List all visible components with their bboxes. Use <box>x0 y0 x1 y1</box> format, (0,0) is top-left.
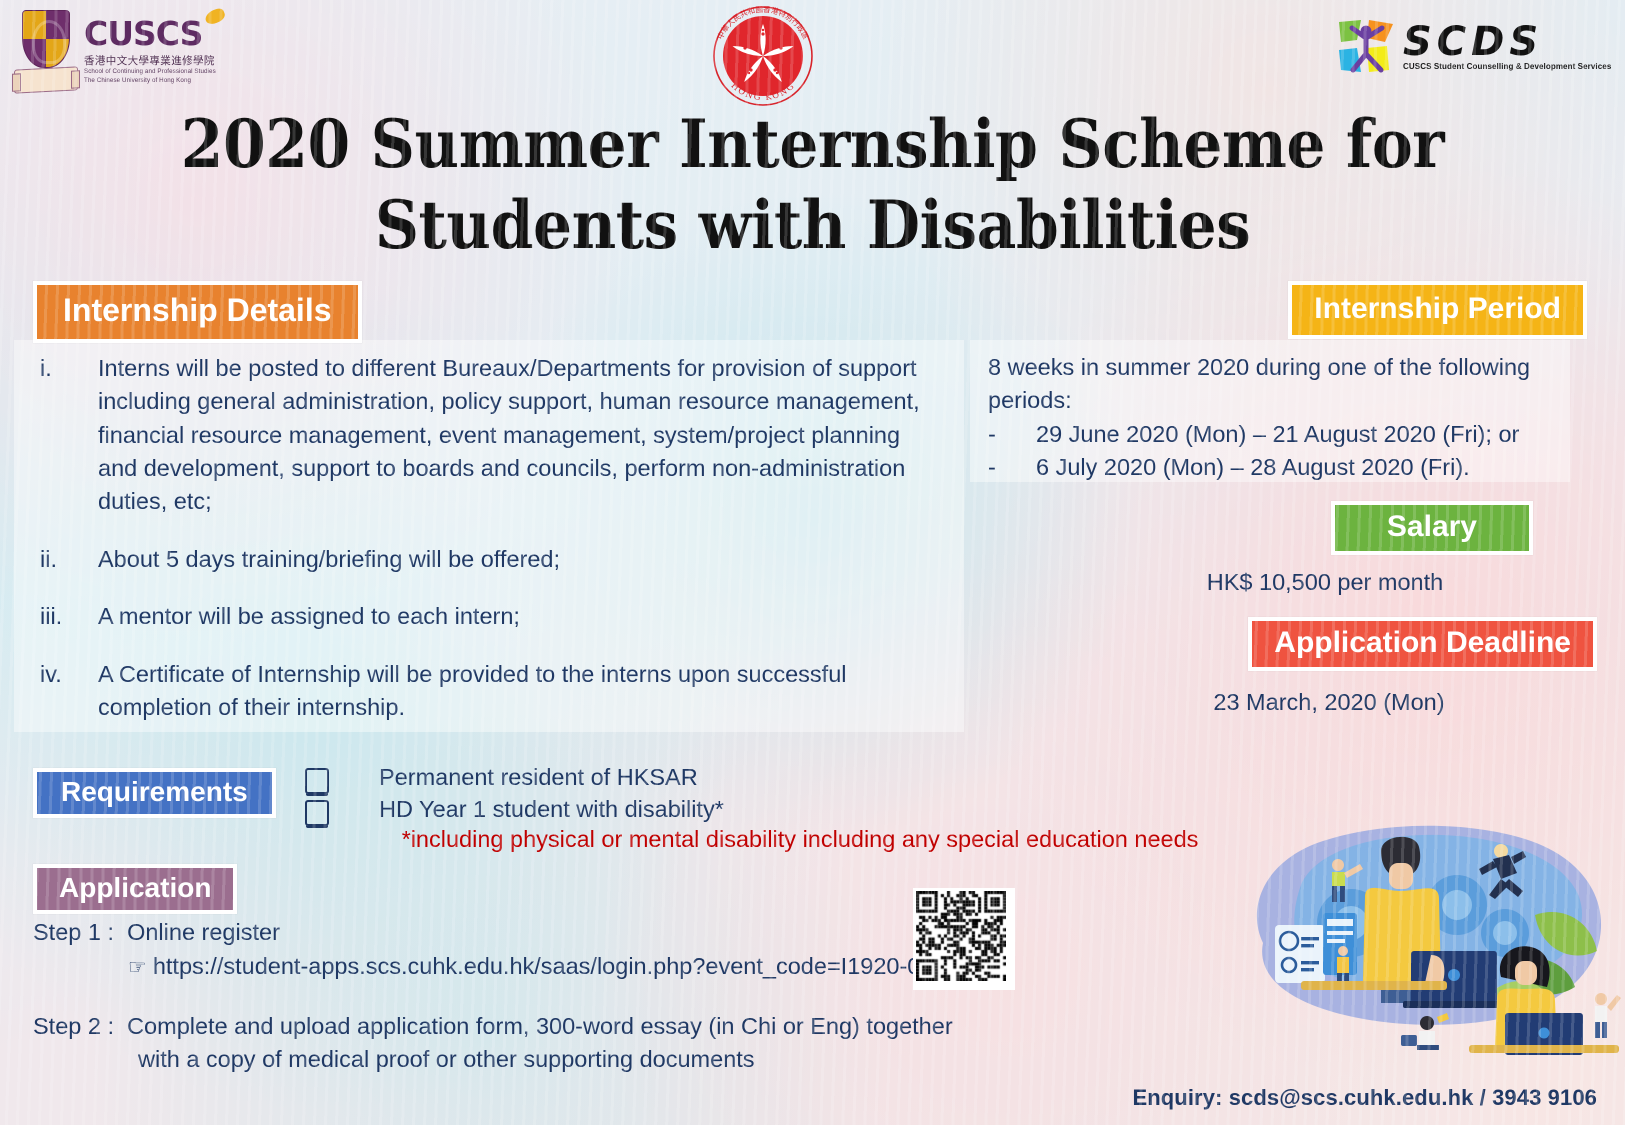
list-item-number: ii. <box>40 543 98 576</box>
step-1-text: Online register <box>127 919 280 945</box>
section-badge-salary: Salary <box>1331 501 1533 555</box>
list-item-number: iv. <box>40 658 98 725</box>
qr-code-icon[interactable] <box>913 888 1015 990</box>
list-item-text: Interns will be posted to different Bure… <box>98 352 940 519</box>
cuhk-crest-icon <box>14 8 76 94</box>
section-badge-requirements: Requirements <box>33 768 276 818</box>
internship-period-content: 8 weeks in summer 2020 during one of the… <box>988 351 1568 484</box>
enquiry-line: Enquiry: scds@scs.cuhk.edu.hk / 3943 910… <box>1132 1085 1597 1111</box>
page-title: 2020 Summer Internship Scheme for Studen… <box>57 104 1568 265</box>
application-deadline-value: 23 March, 2020 (Mon) <box>1059 686 1599 719</box>
registration-url-line[interactable]: ☞https://student-apps.scs.cuhk.edu.hk/sa… <box>128 950 947 983</box>
title-line-2: Students with Disabilities <box>57 185 1568 266</box>
period-option-text: 6 July 2020 (Mon) – 28 August 2020 (Fri)… <box>1036 451 1470 484</box>
salary-value: HK$ 10,500 per month <box>1055 566 1595 599</box>
list-item: Permanent resident of HKSAR <box>305 762 1265 794</box>
pointing-hand-icon: ☞ <box>128 956 147 979</box>
period-dash: - <box>988 418 1036 451</box>
internship-details-list: i. Interns will be posted to different B… <box>40 352 940 748</box>
hksar-regional-emblem-icon: 中華人民共和國香港特別行政區 HONG KONG <box>703 4 823 108</box>
cuscs-wordmark: CUSCS <box>84 17 216 50</box>
section-badge-internship-period: Internship Period <box>1288 281 1587 339</box>
list-item: HD Year 1 student with disability* <box>305 794 1265 826</box>
scds-wordmark: SCDS <box>1403 23 1611 61</box>
list-item: iii. A mentor will be assigned to each i… <box>40 600 940 633</box>
checkbox-icon <box>305 800 329 826</box>
step-2-label: Step 2 <box>33 1013 101 1039</box>
requirement-text: Permanent resident of HKSAR <box>379 762 698 793</box>
section-badge-application: Application <box>33 864 237 914</box>
cuscs-logo: CUSCS 香港中文大學專業進修學院 School of Continuing … <box>14 4 264 98</box>
requirements-footnote: *including physical or mental disability… <box>300 826 1300 853</box>
list-item: i. Interns will be posted to different B… <box>40 352 940 519</box>
period-intro: 8 weeks in summer 2020 during one of the… <box>988 351 1568 418</box>
requirement-text: HD Year 1 student with disability* <box>379 794 724 825</box>
list-item-text: About 5 days training/briefing will be o… <box>98 543 940 576</box>
scds-subtitle: CUSCS Student Counselling & Development … <box>1403 62 1611 71</box>
list-item-number: iii. <box>40 600 98 633</box>
cuscs-english-line-2: The Chinese University of Hong Kong <box>84 77 216 85</box>
section-badge-internship-details: Internship Details <box>33 281 362 343</box>
step-2-separator: : <box>107 1013 114 1039</box>
title-line-1: 2020 Summer Internship Scheme for <box>57 104 1568 185</box>
step-1-separator: : <box>107 919 114 945</box>
step-2-text-line-1: Complete and upload application form, 30… <box>127 1013 953 1039</box>
list-item: iv. A Certificate of Internship will be … <box>40 658 940 725</box>
cuscs-swoosh-icon <box>203 7 226 27</box>
cuscs-chinese-name: 香港中文大學專業進修學院 <box>84 53 216 68</box>
checkbox-icon <box>305 768 329 794</box>
poster-canvas: CUSCS 香港中文大學專業進修學院 School of Continuing … <box>0 0 1625 1125</box>
requirements-list: Permanent resident of HKSAR HD Year 1 st… <box>305 762 1265 826</box>
step-2-text-line-2: with a copy of medical proof or other su… <box>33 1043 1033 1076</box>
list-item-number: i. <box>40 352 98 519</box>
step-1-label: Step 1 <box>33 919 101 945</box>
list-item-text: A Certificate of Internship will be prov… <box>98 658 940 725</box>
cuscs-english-line-1: School of Continuing and Professional St… <box>84 68 216 76</box>
list-item: - 6 July 2020 (Mon) – 28 August 2020 (Fr… <box>988 451 1568 484</box>
registration-url[interactable]: https://student-apps.scs.cuhk.edu.hk/saa… <box>153 953 947 979</box>
scds-pinwheel-figure-icon <box>1335 16 1397 78</box>
period-option-text: 29 June 2020 (Mon) – 21 August 2020 (Fri… <box>1036 418 1519 451</box>
application-step-1: Step 1 : Online register <box>33 916 280 949</box>
section-badge-application-deadline: Application Deadline <box>1248 617 1597 671</box>
teamwork-students-laptops-illustration <box>1205 755 1625 1055</box>
application-step-2: Step 2 : Complete and upload application… <box>33 1010 1033 1077</box>
list-item: - 29 June 2020 (Mon) – 21 August 2020 (F… <box>988 418 1568 451</box>
list-item-text: A mentor will be assigned to each intern… <box>98 600 940 633</box>
scds-logo: SCDS CUSCS Student Counselling & Develop… <box>1335 4 1615 90</box>
period-dash: - <box>988 451 1036 484</box>
list-item: ii. About 5 days training/briefing will … <box>40 543 940 576</box>
